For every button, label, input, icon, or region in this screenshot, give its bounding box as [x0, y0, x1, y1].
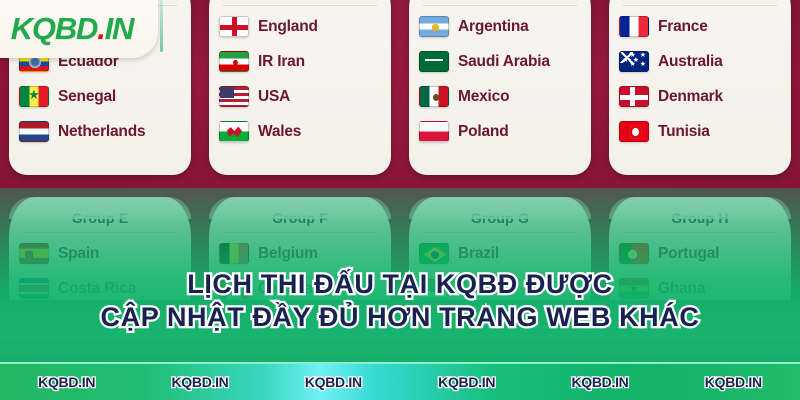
team-name: Brazil — [458, 245, 499, 263]
team-row[interactable]: Argentina — [419, 9, 581, 44]
flag-switzerland-icon — [419, 313, 449, 334]
flag-iran-icon — [219, 51, 249, 72]
team-name: Australia — [658, 53, 723, 71]
team-row[interactable]: Serbia — [419, 271, 581, 306]
ticker-item[interactable]: KQBD.IN — [705, 374, 762, 390]
team-row[interactable]: Senegal — [19, 79, 181, 114]
team-name: Morocco — [258, 315, 321, 333]
divider — [623, 232, 777, 233]
team-name: Germany — [58, 315, 124, 333]
team-row[interactable]: Canada — [219, 271, 381, 306]
group-row-bottom: Group E Spain Costa Rica Germany Japan — [0, 197, 800, 372]
team-row[interactable]: Wales — [219, 114, 381, 149]
team-row[interactable]: Saudi Arabia — [419, 44, 581, 79]
team-row[interactable]: Mexico — [419, 79, 581, 114]
group-title: Group H — [619, 203, 781, 232]
team-name: Senegal — [58, 88, 116, 106]
team-name: Uruguay — [658, 315, 719, 333]
team-row[interactable]: IR Iran — [219, 44, 381, 79]
group-card-slot: Group H Portugal Ghana Uruguay Korea Rep… — [600, 197, 800, 372]
group-card-slot: Group F Belgium Canada Morocco Croatia — [200, 197, 400, 372]
team-row[interactable]: Uruguay — [619, 306, 781, 341]
team-name: Costa Rica — [58, 280, 136, 298]
logo-dot: . — [97, 11, 104, 46]
ticker-item[interactable]: KQBD.IN — [571, 374, 628, 390]
ticker-item[interactable]: KQBD.IN — [305, 374, 362, 390]
group-title: Group E — [19, 203, 181, 232]
flag-uruguay-icon — [619, 313, 649, 334]
team-name: Tunisia — [658, 123, 710, 141]
flag-netherlands-icon — [19, 121, 49, 142]
poster-canvas: Group A Qatar Ecuador Senegal Netherland… — [0, 0, 800, 400]
group-card-slot: Group D France Australia Denmark Tunisia — [600, 0, 800, 175]
divider — [623, 5, 777, 6]
flag-portugal-icon — [619, 243, 649, 264]
group-card-e[interactable]: Group E Spain Costa Rica Germany Japan — [9, 197, 191, 372]
flag-mexico-icon — [419, 86, 449, 107]
flag-argentina-icon — [419, 16, 449, 37]
team-name: Canada — [258, 280, 313, 298]
team-row[interactable]: Brazil — [419, 236, 581, 271]
flag-usa-icon — [219, 86, 249, 107]
team-row[interactable]: France — [619, 9, 781, 44]
team-row[interactable]: Denmark — [619, 79, 781, 114]
flag-denmark-icon — [619, 86, 649, 107]
flag-spain-icon — [19, 243, 49, 264]
team-name: Spain — [58, 245, 99, 263]
flag-morocco-icon — [219, 313, 249, 334]
flag-australia-icon — [619, 51, 649, 72]
team-name: Argentina — [458, 18, 529, 36]
group-card-slot: Group E Spain Costa Rica Germany Japan — [0, 197, 200, 372]
team-name: IR Iran — [258, 53, 305, 71]
team-name: England — [258, 18, 318, 36]
site-logo-badge[interactable]: KQBD.IN — [0, 0, 158, 58]
team-row[interactable]: Spain — [19, 236, 181, 271]
team-name: Ghana — [658, 280, 705, 298]
team-row[interactable]: Belgium — [219, 236, 381, 271]
group-card-g[interactable]: Group G Brazil Serbia Switzerland Camero… — [409, 197, 591, 372]
team-name: Wales — [258, 123, 301, 141]
group-title: Group F — [219, 203, 381, 232]
team-row[interactable]: Switzerland — [419, 306, 581, 341]
divider — [223, 232, 377, 233]
flag-saudi-arabia-icon — [419, 51, 449, 72]
divider — [423, 5, 577, 6]
group-card-d[interactable]: Group D France Australia Denmark Tunisia — [609, 0, 791, 175]
team-row[interactable]: England — [219, 9, 381, 44]
logo-text: KQBD.IN — [11, 0, 134, 47]
group-card-b[interactable]: Group B England IR Iran USA Wales — [209, 0, 391, 175]
group-card-c[interactable]: Group C Argentina Saudi Arabia Mexico Po… — [409, 0, 591, 175]
flag-serbia-icon — [419, 278, 449, 299]
team-name: Netherlands — [58, 123, 145, 141]
team-name: Mexico — [458, 88, 509, 106]
logo-tld: IN — [105, 11, 134, 46]
team-name: Denmark — [658, 88, 723, 106]
team-row[interactable]: Poland — [419, 114, 581, 149]
flag-canada-icon — [219, 278, 249, 299]
team-row[interactable]: Australia — [619, 44, 781, 79]
logo-name: KQBD — [11, 11, 97, 46]
flag-ghana-icon — [619, 278, 649, 299]
team-name: Portugal — [658, 245, 719, 263]
group-card-f[interactable]: Group F Belgium Canada Morocco Croatia — [209, 197, 391, 372]
team-name: Serbia — [458, 280, 504, 298]
flag-england-icon — [219, 16, 249, 37]
group-card-slot: Group G Brazil Serbia Switzerland Camero… — [400, 197, 600, 372]
flag-tunisia-icon — [619, 121, 649, 142]
flag-germany-icon — [19, 313, 49, 334]
flag-poland-icon — [419, 121, 449, 142]
flag-belgium-icon — [219, 243, 249, 264]
ticker-item[interactable]: KQBD.IN — [438, 374, 495, 390]
team-row[interactable]: Germany — [19, 306, 181, 341]
flag-brazil-icon — [419, 243, 449, 264]
flag-wales-icon — [219, 121, 249, 142]
team-row[interactable]: USA — [219, 79, 381, 114]
divider — [423, 232, 577, 233]
group-title: Group G — [419, 203, 581, 232]
team-name: Poland — [458, 123, 508, 141]
flag-france-icon — [619, 16, 649, 37]
flag-costa-rica-icon — [19, 278, 49, 299]
bottom-ticker-bar: KQBD.IN KQBD.IN KQBD.IN KQBD.IN KQBD.IN … — [0, 362, 800, 400]
team-name: Saudi Arabia — [458, 53, 550, 71]
team-name: Switzerland — [458, 315, 542, 333]
group-card-slot: Group B England IR Iran USA Wales — [200, 0, 400, 175]
team-name: France — [658, 18, 708, 36]
divider — [223, 5, 377, 6]
team-row[interactable]: Morocco — [219, 306, 381, 341]
team-row[interactable]: Ghana — [619, 271, 781, 306]
ticker-item[interactable]: KQBD.IN — [38, 374, 95, 390]
team-row[interactable]: Tunisia — [619, 114, 781, 149]
team-name: USA — [258, 88, 290, 106]
flag-senegal-icon — [19, 86, 49, 107]
team-name: Belgium — [258, 245, 318, 263]
group-card-slot: Group C Argentina Saudi Arabia Mexico Po… — [400, 0, 600, 175]
team-row[interactable]: Netherlands — [19, 114, 181, 149]
ticker-item[interactable]: KQBD.IN — [171, 374, 228, 390]
team-row[interactable]: Costa Rica — [19, 271, 181, 306]
divider — [23, 232, 177, 233]
group-card-h[interactable]: Group H Portugal Ghana Uruguay Korea Rep… — [609, 197, 791, 372]
team-row[interactable]: Portugal — [619, 236, 781, 271]
